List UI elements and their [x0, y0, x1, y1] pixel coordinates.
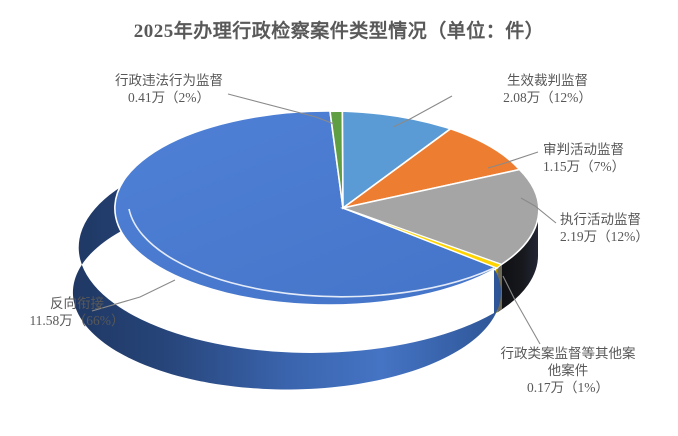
- pie-label-reverse-link-name: 反向衔接: [2, 295, 152, 312]
- pie-label-other-cases-name-1: 行政类案监督等其他案: [468, 345, 668, 362]
- pie-label-effective-judgment-value: 2.08万（12%）: [460, 89, 635, 106]
- pie-label-execution-activity-name: 执行活动监督: [560, 211, 678, 228]
- pie-label-reverse-link-value: 11.58万（66%）: [2, 312, 152, 329]
- pie-label-admin-illegal-value: 0.41万（2%）: [84, 89, 254, 106]
- pie-label-trial-activity-value: 1.15万（7%）: [543, 158, 678, 175]
- pie-label-other-cases-name-2: 他案件: [468, 362, 668, 379]
- pie-label-reverse-link: 反向衔接 11.58万（66%）: [2, 295, 152, 329]
- pie-label-trial-activity: 审判活动监督 1.15万（7%）: [543, 141, 678, 175]
- pie-chart-figure: 2025年办理行政检察案件类型情况（单位：件）: [0, 0, 678, 436]
- pie-label-other-cases: 行政类案监督等其他案 他案件 0.17万（1%）: [468, 345, 668, 396]
- pie-label-effective-judgment: 生效裁判监督 2.08万（12%）: [460, 72, 635, 106]
- pie-label-admin-illegal-name: 行政违法行为监督: [84, 72, 254, 89]
- pie-label-other-cases-value: 0.17万（1%）: [468, 379, 668, 396]
- pie-label-execution-activity-value: 2.19万（12%）: [560, 228, 678, 245]
- pie-label-effective-judgment-name: 生效裁判监督: [460, 72, 635, 89]
- pie-label-admin-illegal: 行政违法行为监督 0.41万（2%）: [84, 72, 254, 106]
- pie-label-execution-activity: 执行活动监督 2.19万（12%）: [560, 211, 678, 245]
- pie-label-trial-activity-name: 审判活动监督: [543, 141, 678, 158]
